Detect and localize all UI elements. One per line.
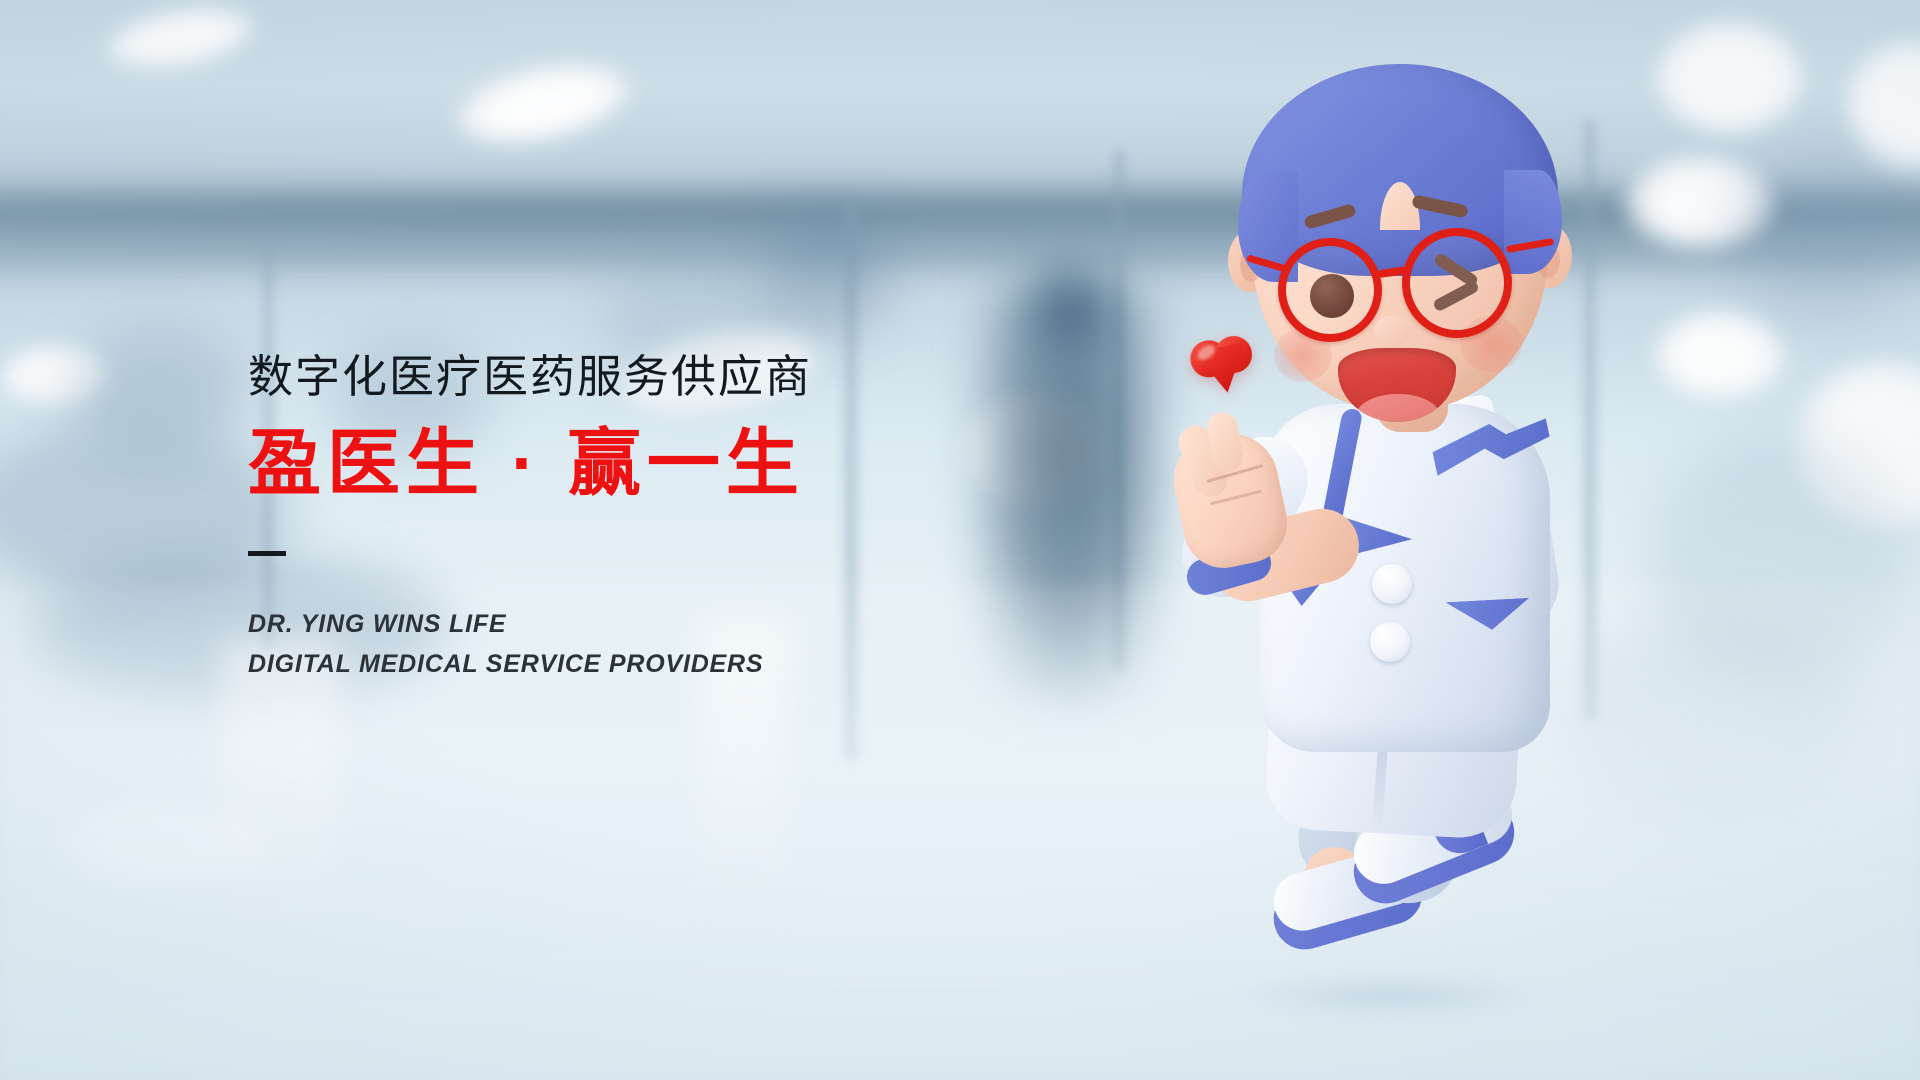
tongue <box>1356 394 1440 422</box>
glasses-lens-left <box>1278 238 1382 342</box>
english-tagline-primary: DR. YING WINS LIFE <box>248 604 1008 645</box>
banner-stage: 数字化医疗医药服务供应商 盈医生 · 赢一生 DR. YING WINS LIF… <box>0 0 1920 1080</box>
coat-button-lower <box>1370 622 1410 662</box>
banner-subtitle: 数字化医疗医药服务供应商 <box>248 352 1008 402</box>
english-tagline-group: DR. YING WINS LIFE DIGITAL MEDICAL SERVI… <box>248 604 1008 685</box>
nose <box>1374 316 1410 346</box>
banner-headline: 盈医生 · 赢一生 <box>248 424 1008 504</box>
english-tagline-secondary: DIGITAL MEDICAL SERVICE PROVIDERS <box>248 644 1008 685</box>
glasses-lens-right <box>1402 228 1512 338</box>
divider-rule <box>248 551 286 556</box>
mascot-ground-shadow <box>1240 974 1540 1018</box>
coat-button-upper <box>1372 564 1412 604</box>
hero-copy: 数字化医疗医药服务供应商 盈医生 · 赢一生 DR. YING WINS LIF… <box>248 352 1008 685</box>
heart-icon <box>1187 333 1258 401</box>
doctor-mascot <box>1180 52 1640 1012</box>
